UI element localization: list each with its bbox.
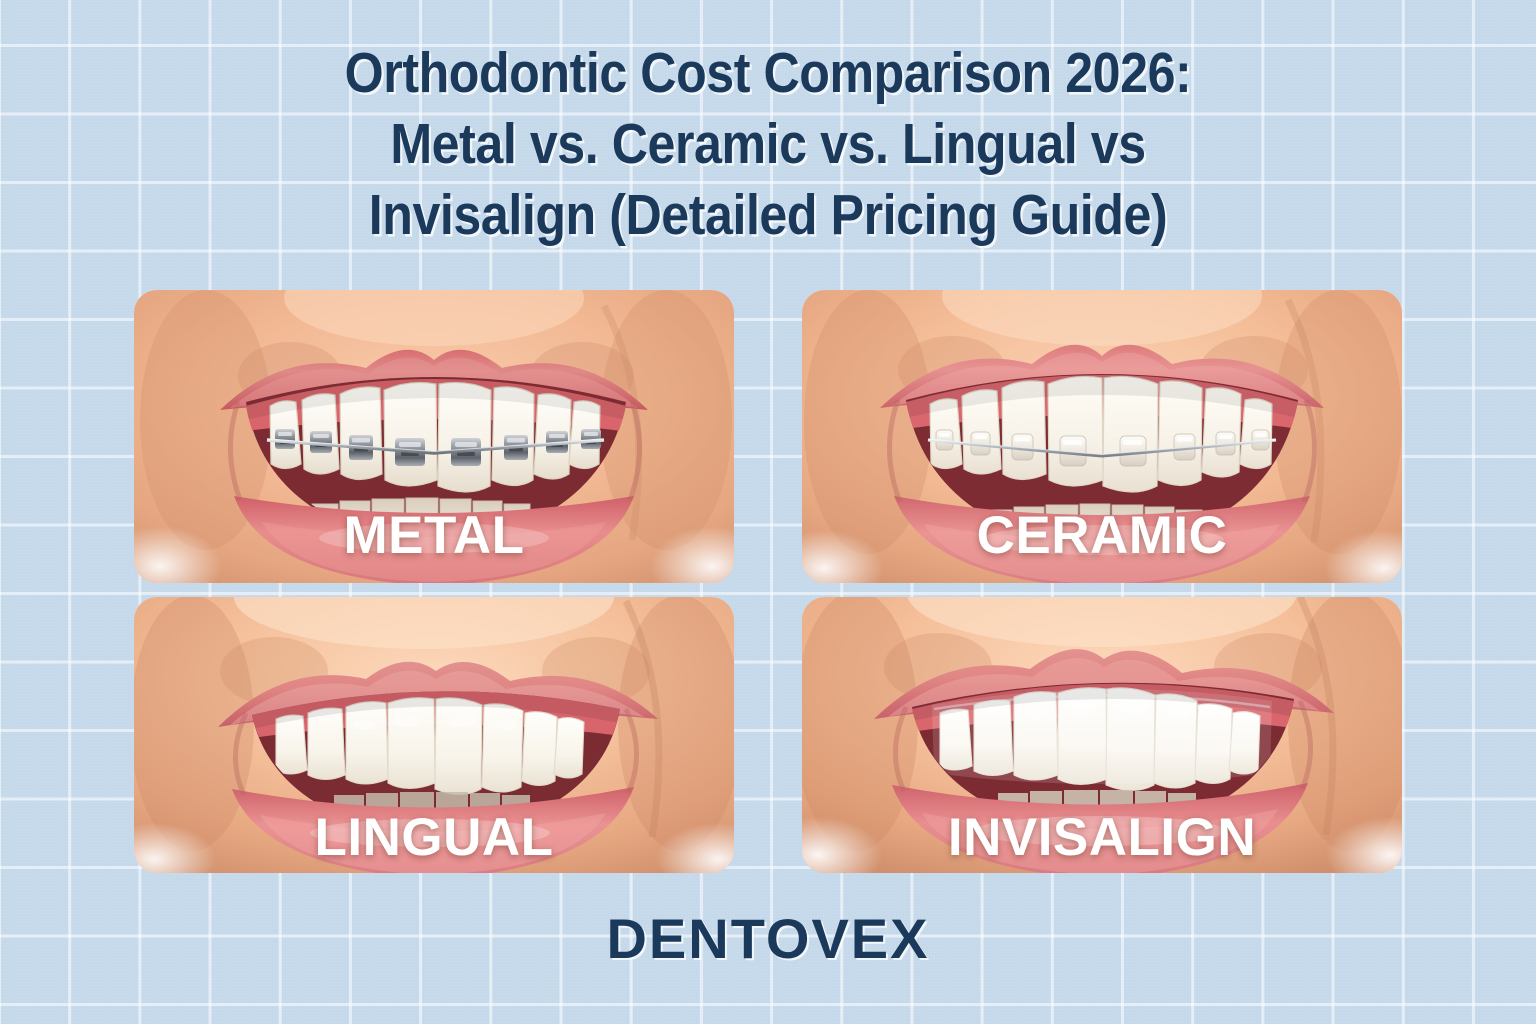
- brand-wordmark: DENTOVEX: [0, 906, 1536, 972]
- title-line-2: Metal vs. Ceramic vs. Lingual vs: [92, 109, 1444, 180]
- comparison-card-metal[interactable]: METAL: [134, 290, 734, 583]
- page-title: Orthodontic Cost Comparison 2026: Metal …: [0, 38, 1536, 251]
- smile-photo-lingual-icon: [134, 597, 734, 873]
- comparison-card-grid: METAL: [134, 290, 1402, 873]
- title-line-1: Orthodontic Cost Comparison 2026:: [92, 38, 1444, 109]
- comparison-card-invisalign[interactable]: INVISALIGN: [802, 597, 1402, 873]
- smile-photo-invisalign-icon: [802, 597, 1402, 873]
- comparison-card-ceramic[interactable]: CERAMIC: [802, 290, 1402, 583]
- smile-photo-metal-icon: [134, 290, 734, 583]
- smile-photo-ceramic-icon: [802, 290, 1402, 583]
- comparison-card-lingual[interactable]: LINGUAL: [134, 597, 734, 873]
- title-line-3: Invisalign (Detailed Pricing Guide): [92, 180, 1444, 251]
